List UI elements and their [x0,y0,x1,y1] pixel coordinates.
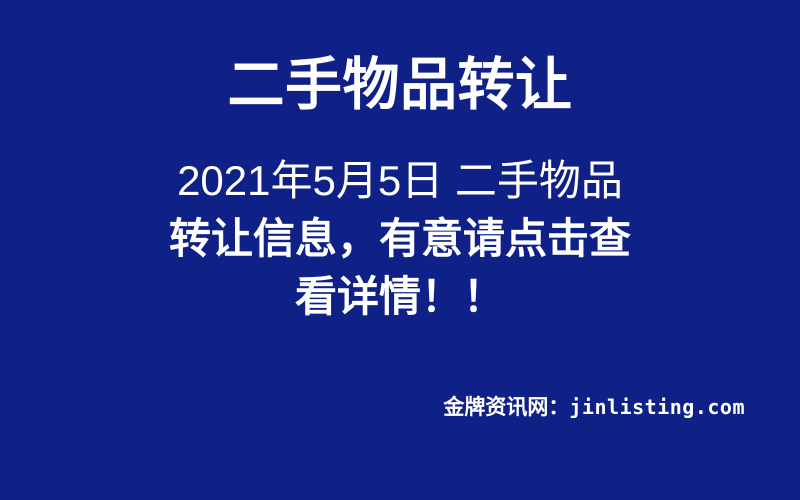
poster-body-text: 2021年5月5日 二手物品 转让信息，有意请点击查 看详情！！ [0,152,800,326]
body-line-1: 2021年5月5日 二手物品 [0,152,800,210]
site-watermark: 金牌资讯网：jinlisting.com [443,394,745,421]
body-line-3: 看详情！！ [0,268,800,326]
site-name-label: 金牌资讯网： [443,396,569,419]
site-url: jinlisting.com [569,395,745,419]
body-line-2: 转让信息，有意请点击查 [0,210,800,268]
page-title: 二手物品转让 [0,52,800,118]
promo-poster: 二手物品转让 2021年5月5日 二手物品 转让信息，有意请点击查 看详情！！ … [0,0,800,500]
